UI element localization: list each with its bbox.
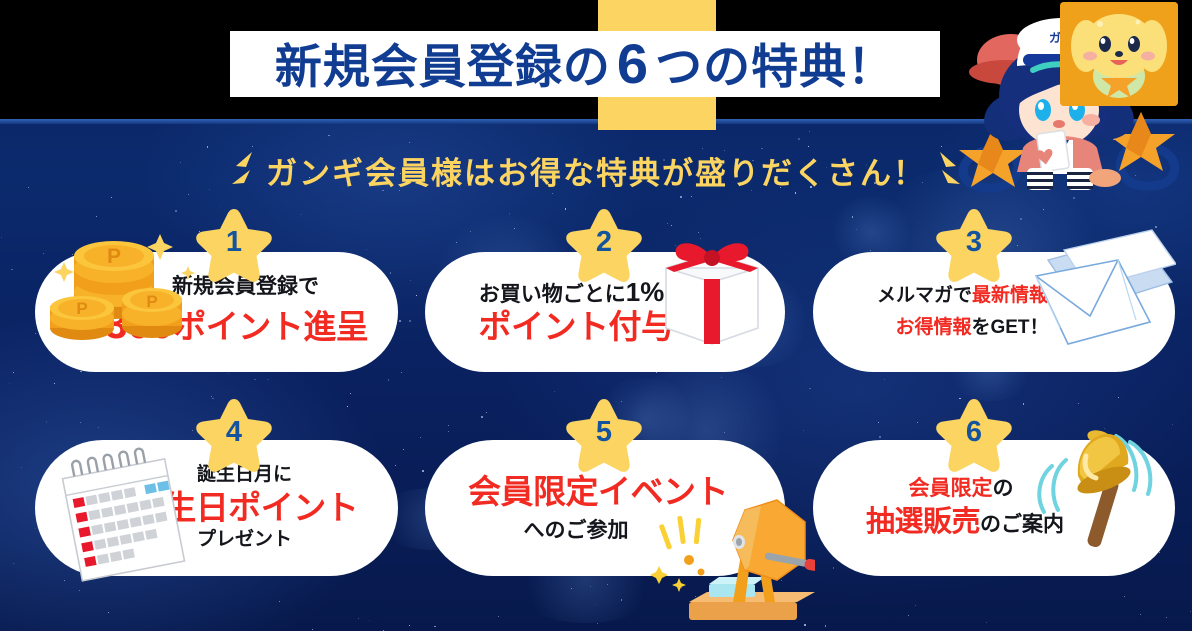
benefit-6-line2-red: 抽選販売 — [866, 506, 980, 538]
promo-banner: 新規会員登録の6つの特典！ ガンギ会員様はお得な特典が盛りだくさん！ 新規会員登… — [0, 0, 1192, 631]
envelope-icon — [1026, 224, 1176, 359]
star-badge-1: 1 — [192, 205, 276, 285]
title-text-after: つの特典！ — [655, 40, 895, 93]
benefit-6-line1-red: 会員限定 — [908, 477, 992, 500]
star-badge-4: 4 — [192, 395, 276, 475]
star-badge-2: 2 — [562, 205, 646, 285]
star-badge-4-number: 4 — [226, 416, 242, 449]
star-badge-5: 5 — [562, 395, 646, 475]
title-banner: 新規会員登録の6つの特典！ — [230, 31, 940, 97]
star-badge-5-number: 5 — [596, 416, 612, 449]
star-badge-3: 3 — [932, 205, 1016, 285]
subtitle-text: ガンギ会員様はお得な特典が盛りだくさん！ — [266, 148, 926, 193]
lottery-drum-icon — [645, 480, 815, 630]
benefit-1-points-label: ポイント進呈 — [173, 308, 368, 345]
star-badge-3-number: 3 — [966, 226, 982, 259]
hand-bell-icon — [1026, 420, 1166, 560]
gift-box-icon — [648, 228, 776, 350]
benefit-2-line1-a: お買い物ごとに — [479, 283, 626, 306]
coin-stack-icon: P P P — [42, 222, 202, 347]
svg-text:P: P — [76, 299, 87, 318]
star-badge-6-number: 6 — [966, 416, 982, 449]
svg-text:P: P — [146, 292, 157, 311]
sparkle-left-icon — [230, 150, 256, 190]
page-title: 新規会員登録の6つの特典！ — [275, 36, 895, 92]
title-text-before: 新規会員登録の — [275, 40, 611, 93]
star-badge-2-number: 2 — [596, 226, 612, 259]
svg-text:P: P — [107, 245, 121, 268]
benefit-3-line2-red: お得情報 — [895, 317, 971, 338]
benefit-3-line1-black: メルマガで — [877, 285, 972, 306]
dog-mascot-inset — [1060, 2, 1178, 106]
title-number-six: 6 — [611, 32, 655, 95]
calendar-icon — [52, 440, 192, 582]
star-badge-6: 6 — [932, 395, 1016, 475]
star-badge-1-number: 1 — [226, 226, 242, 259]
benefit-6-line1-black: の — [992, 477, 1013, 500]
